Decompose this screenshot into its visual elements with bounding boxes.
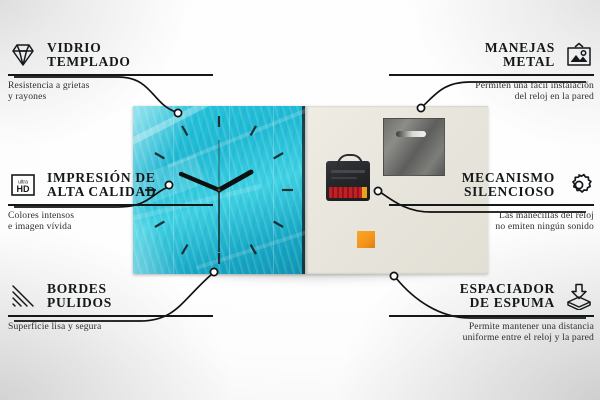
feature-description: Resistencia a grietasy rayones xyxy=(8,80,213,103)
foam-spacer-arrow-icon xyxy=(564,281,594,311)
divider xyxy=(389,315,594,317)
feature-title: ESPACIADORDE ESPUMA xyxy=(389,282,555,311)
picture-frame-hook-icon xyxy=(564,40,594,70)
leader-dot-edges xyxy=(210,268,217,275)
feature-title: BORDESPULIDOS xyxy=(47,282,213,311)
leader-dot-hooks xyxy=(417,104,424,111)
feature-hooks: MANEJASMETAL Permiten una fácil instalac… xyxy=(389,40,594,103)
feature-foam: ESPACIADORDE ESPUMA Permite mantener una… xyxy=(389,281,594,344)
divider xyxy=(8,204,213,206)
leader-dot-foam xyxy=(390,272,397,279)
divider xyxy=(8,315,213,317)
feature-title: MECANISMOSILENCIOSO xyxy=(389,171,555,200)
gear-icon xyxy=(564,170,594,200)
feature-description: Las manecillas del relojno emiten ningún… xyxy=(389,210,594,233)
feature-description: Permite mantener una distanciauniforme e… xyxy=(389,321,594,344)
ultra-hd-icon: ultra HD xyxy=(8,170,38,200)
feature-title: VIDRIOTEMPLADO xyxy=(47,41,213,70)
feature-title: MANEJASMETAL xyxy=(389,41,555,70)
diamond-icon xyxy=(8,40,38,70)
leader-dot-mech xyxy=(374,187,381,194)
feature-title: IMPRESIÓN DEALTA CALIDAD xyxy=(47,171,213,200)
feature-description: Colores intensose imagen vívida xyxy=(8,210,213,233)
feature-glass: VIDRIOTEMPLADO Resistencia a grietasy ra… xyxy=(8,40,213,103)
divider xyxy=(389,204,594,206)
leader-dot-glass xyxy=(174,109,181,116)
feature-description: Superficie lisa y segura xyxy=(8,321,213,333)
divider xyxy=(8,74,213,76)
feature-edges: BORDESPULIDOS Superficie lisa y segura xyxy=(8,281,213,332)
feature-mechanism: MECANISMOSILENCIOSO Las manecillas del r… xyxy=(389,170,594,233)
infographic-canvas: VIDRIOTEMPLADO Resistencia a grietasy ra… xyxy=(0,0,600,400)
polished-edges-icon xyxy=(8,281,38,311)
feature-description: Permiten una fácil instalacióndel reloj … xyxy=(389,80,594,103)
svg-text:HD: HD xyxy=(17,184,30,194)
feature-print: ultra HD IMPRESIÓN DEALTA CALIDAD Colore… xyxy=(8,170,213,233)
divider xyxy=(389,74,594,76)
